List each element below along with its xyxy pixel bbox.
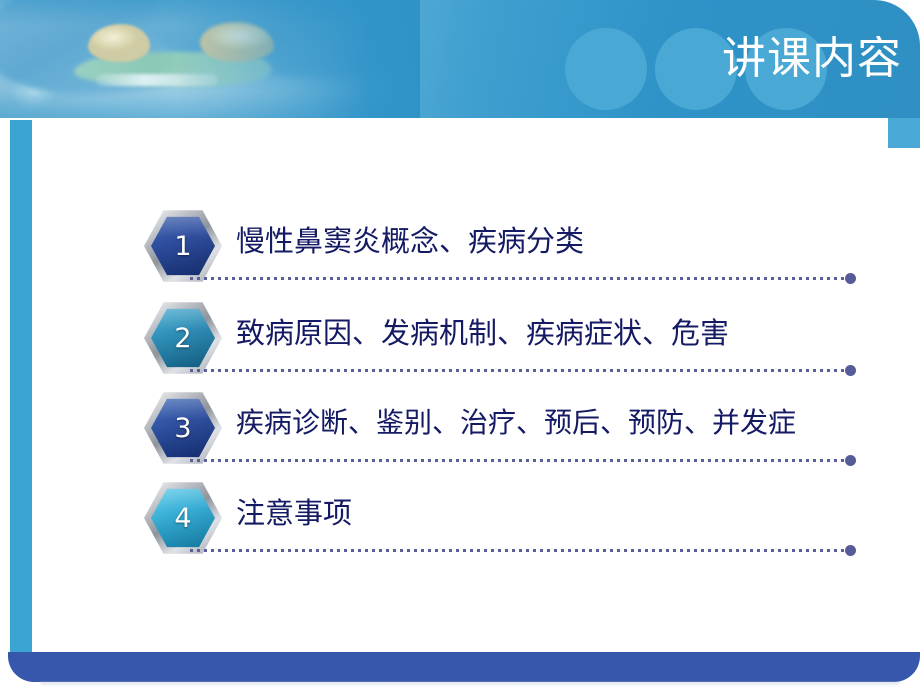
- agenda-label-4: 注意事项: [236, 482, 352, 544]
- hexagon-number-1: 1: [144, 208, 222, 284]
- agenda-divider-end-dot-1: [845, 273, 856, 284]
- agenda-item-4[interactable]: 4 注意事项: [0, 478, 920, 570]
- hexagon-number-3: 3: [144, 390, 222, 466]
- slide-canvas: 讲课内容 1 慢性鼻窦炎概念、疾病分类 2 致病原因、发病机制、疾病症: [0, 0, 920, 690]
- agenda-divider-end-dot-3: [845, 455, 856, 466]
- hexagon-number-4: 4: [144, 480, 222, 556]
- slide-bottom-bar: [8, 652, 920, 682]
- agenda-label-3: 疾病诊断、鉴别、治疗、预后、预防、并发症: [236, 392, 796, 454]
- hexagon-badge-2: 2: [144, 300, 222, 376]
- agenda-list: 1 慢性鼻窦炎概念、疾病分类 2 致病原因、发病机制、疾病症状、危害 3: [0, 0, 920, 690]
- agenda-item-3[interactable]: 3 疾病诊断、鉴别、治疗、预后、预防、并发症: [0, 388, 920, 480]
- agenda-item-2[interactable]: 2 致病原因、发病机制、疾病症状、危害: [0, 298, 920, 390]
- agenda-divider-1: [190, 277, 848, 280]
- agenda-divider-3: [190, 459, 848, 462]
- agenda-item-1[interactable]: 1 慢性鼻窦炎概念、疾病分类: [0, 206, 920, 298]
- agenda-divider-end-dot-2: [845, 365, 856, 376]
- slide-bottom-shadow: [40, 681, 900, 687]
- agenda-label-2: 致病原因、发病机制、疾病症状、危害: [236, 302, 729, 364]
- hexagon-number-2: 2: [144, 300, 222, 376]
- agenda-divider-4: [190, 549, 848, 552]
- hexagon-badge-1: 1: [144, 208, 222, 284]
- agenda-divider-end-dot-4: [845, 545, 856, 556]
- hexagon-badge-4: 4: [144, 480, 222, 556]
- agenda-label-1: 慢性鼻窦炎概念、疾病分类: [236, 210, 584, 272]
- agenda-divider-2: [190, 369, 848, 372]
- hexagon-badge-3: 3: [144, 390, 222, 466]
